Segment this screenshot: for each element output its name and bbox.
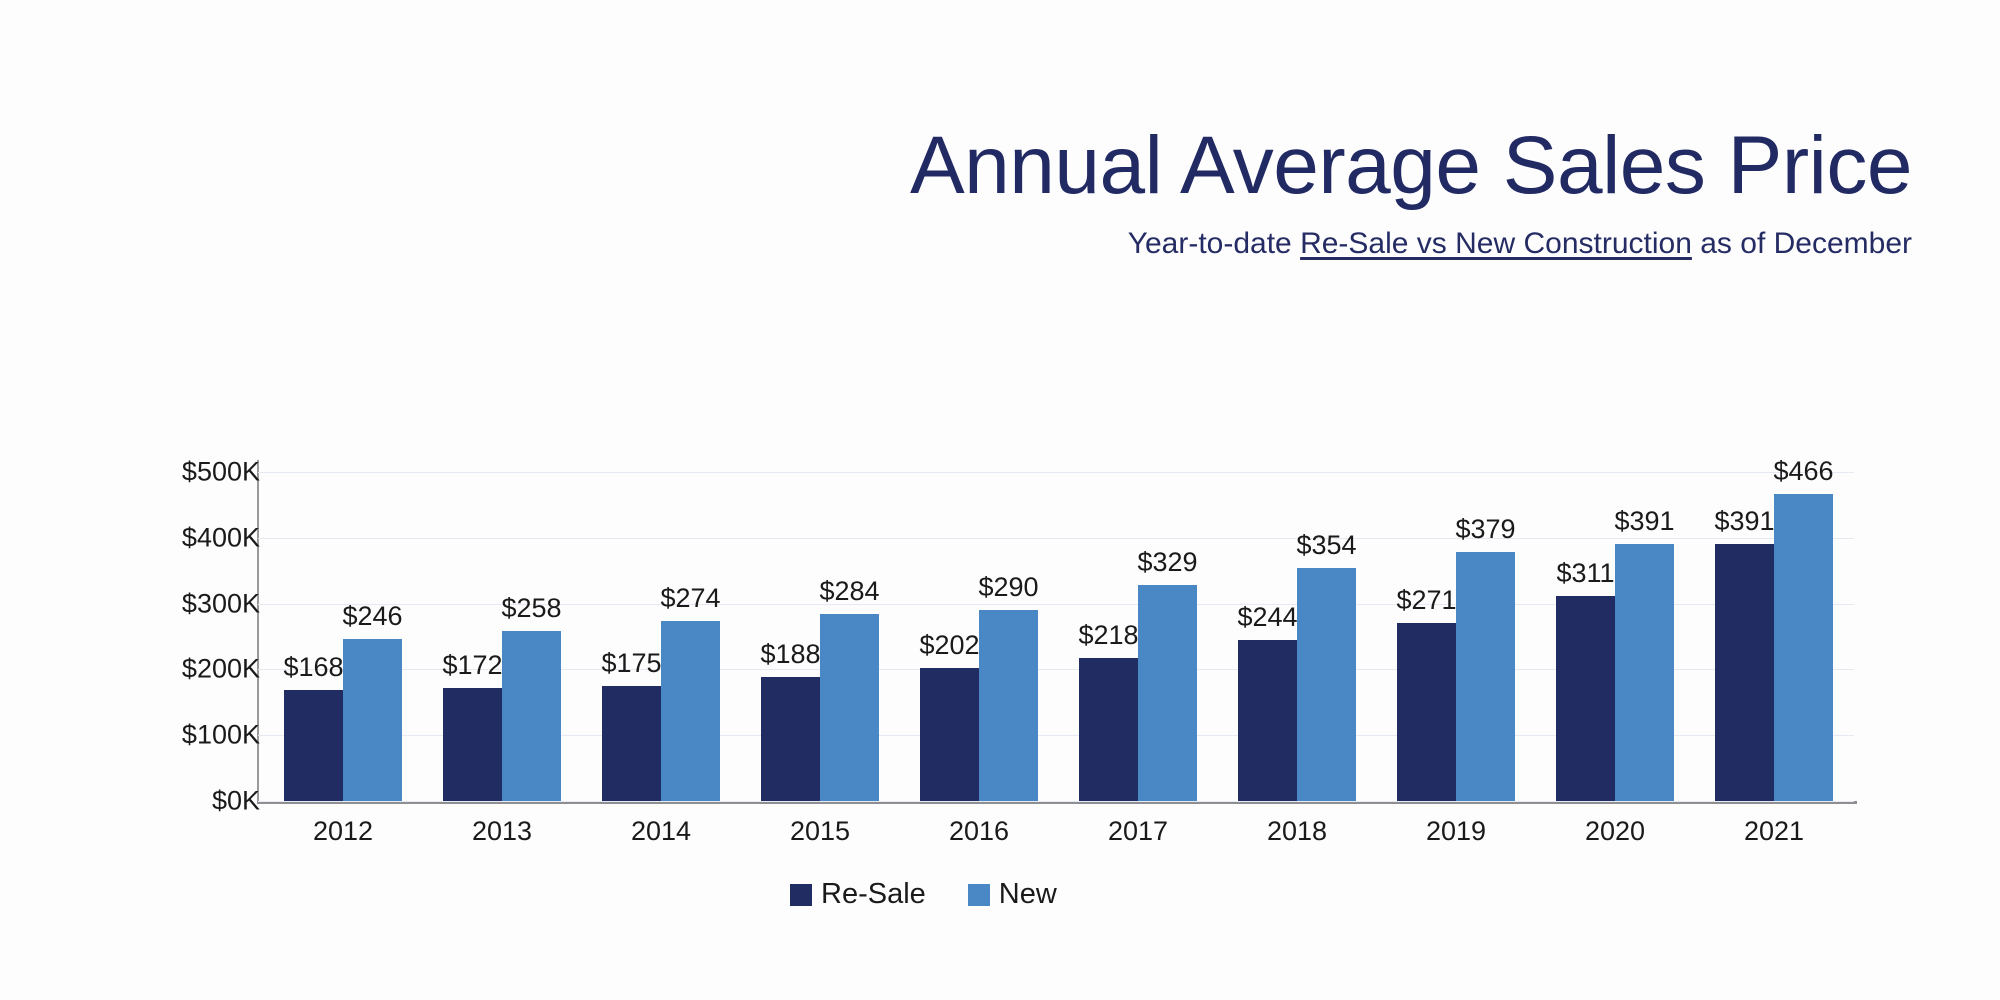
x-axis-tick: 2015 [740, 816, 900, 847]
slide-canvas: Annual Average Sales Price Year-to-date … [0, 0, 2000, 1000]
bar-new[interactable] [1297, 568, 1356, 801]
bar-group [1715, 472, 1833, 801]
bar-group [602, 472, 720, 801]
bar-new[interactable] [979, 610, 1038, 801]
subtitle-underlined: Re-Sale vs New Construction [1300, 227, 1692, 260]
x-axis-tick: 2019 [1376, 816, 1536, 847]
bar-new[interactable] [502, 631, 561, 801]
bar-resale[interactable] [761, 677, 820, 801]
bar-new[interactable] [1138, 585, 1197, 801]
bar-group [1238, 472, 1356, 801]
x-axis-tick: 2012 [263, 816, 423, 847]
gridline [258, 801, 1854, 802]
legend-label: Re-Sale [821, 878, 926, 911]
x-axis-tick: 2018 [1217, 816, 1377, 847]
x-axis-tick: 2013 [422, 816, 582, 847]
bar-resale[interactable] [1397, 623, 1456, 801]
bar-new[interactable] [1615, 544, 1674, 801]
chart-subtitle: Year-to-date Re-Sale vs New Construction… [0, 226, 1912, 262]
x-axis-tick: 2020 [1535, 816, 1695, 847]
chart-header: Annual Average Sales Price Year-to-date … [0, 120, 1912, 262]
bar-resale[interactable] [1238, 640, 1297, 801]
y-axis-tick: $300K [110, 588, 260, 619]
legend-item[interactable]: Re-Sale [790, 878, 926, 911]
bar-resale[interactable] [443, 688, 502, 801]
subtitle-suffix: as of December [1692, 227, 1912, 260]
legend-item[interactable]: New [968, 878, 1057, 911]
bar-resale[interactable] [1079, 658, 1138, 801]
bar-new[interactable] [661, 621, 720, 801]
x-axis-tick: 2014 [581, 816, 741, 847]
bar-resale[interactable] [920, 668, 979, 801]
legend-label: New [999, 878, 1057, 911]
bar-group [920, 472, 1038, 801]
bar-resale[interactable] [1556, 596, 1615, 801]
bar-group [284, 472, 402, 801]
bar-group [1079, 472, 1197, 801]
bar-group [1397, 472, 1515, 801]
bar-new[interactable] [1774, 494, 1833, 801]
bar-new[interactable] [343, 639, 402, 801]
bar-resale[interactable] [602, 686, 661, 801]
y-axis-tick: $200K [110, 654, 260, 685]
subtitle-prefix: Year-to-date [1128, 227, 1300, 260]
bar-resale[interactable] [284, 690, 343, 801]
y-axis-tick: $0K [110, 786, 260, 817]
bar-chart: $0K$100K$200K$300K$400K$500K $168$246$17… [150, 420, 1910, 880]
x-axis-tick: 2016 [899, 816, 1059, 847]
x-axis-tick: 2021 [1694, 816, 1854, 847]
x-axis-tick: 2017 [1058, 816, 1218, 847]
chart-legend: Re-SaleNew [790, 878, 1057, 911]
bar-group [761, 472, 879, 801]
bar-group [1556, 472, 1674, 801]
bar-group [443, 472, 561, 801]
y-axis-tick: $400K [110, 522, 260, 553]
y-axis-tick: $100K [110, 720, 260, 751]
bar-new[interactable] [1456, 552, 1515, 801]
legend-swatch-icon [968, 884, 990, 906]
page-title: Annual Average Sales Price [0, 120, 1912, 212]
plot-area: $168$246$172$258$175$274$188$284$202$290… [258, 472, 1854, 801]
bar-resale[interactable] [1715, 544, 1774, 801]
y-axis-tick: $500K [110, 457, 260, 488]
bar-new[interactable] [820, 614, 879, 801]
legend-swatch-icon [790, 884, 812, 906]
